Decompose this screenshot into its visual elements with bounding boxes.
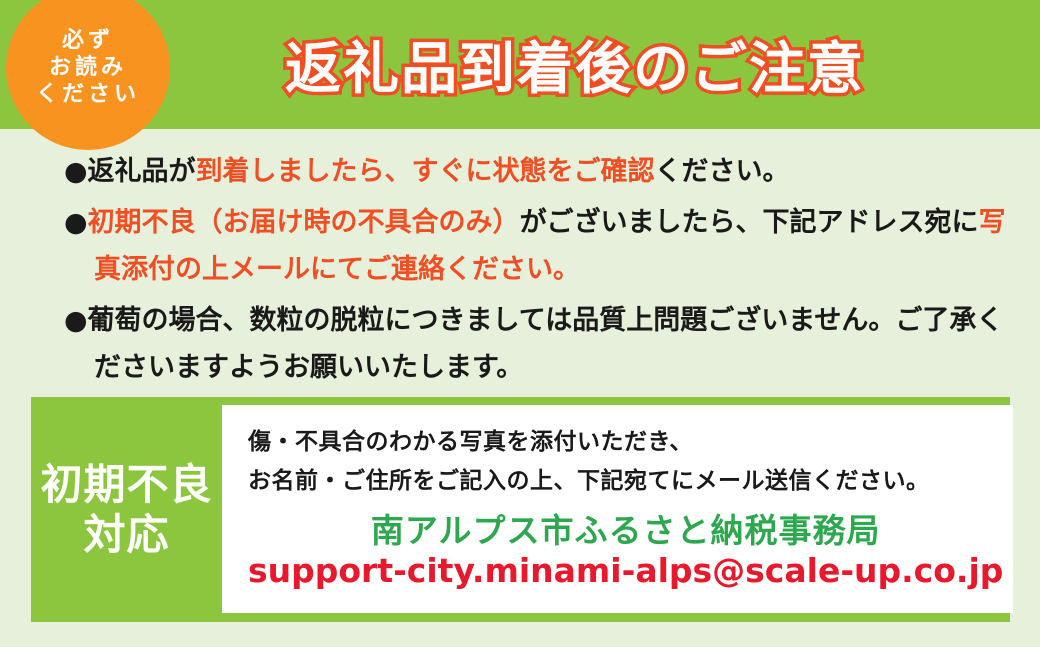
contact-email-address[interactable]: support-city.minami-alps@scale-up.co.jp — [248, 551, 1003, 591]
note-2-marker: ● — [64, 207, 88, 238]
note-item-2: ●初期不良（お届け時の不具合のみ）がございましたら、下記アドレス宛に写真添付の上… — [64, 199, 1008, 293]
notes-list: ●返礼品が到着しましたら、すぐに状態をご確認ください。 ●初期不良（お届け時の不… — [64, 148, 1008, 395]
defect-contact-panel: 初期不良 対応 傷・不具合のわかる写真を添付いただき、 お名前・ご住所をご記入の… — [31, 397, 1010, 622]
badge-line-2: お読み — [49, 56, 127, 80]
note-1-segment-2: 到着しましたら、すぐに状態をご確認 — [196, 156, 655, 187]
note-1-segment-1: ●返礼品が — [64, 156, 196, 187]
defect-label-line-2: 対応 — [83, 511, 169, 559]
notice-card: 返礼品到着後のご注意 必ず お読み ください ●返礼品が到着しましたら、すぐに状… — [0, 0, 1040, 647]
note-2-segment-1: 初期不良（お届け時の不具合のみ） — [88, 207, 520, 238]
defect-response-label: 初期不良 対応 — [31, 397, 222, 622]
organization-name: 南アルプス市ふるさと納税事務局 — [248, 511, 1003, 551]
note-3-segment-1: ●葡萄の場合、数粒の脱粒につきましては品質上問題ございません。ご了承くださいます… — [64, 305, 1003, 383]
note-item-3: ●葡萄の場合、数粒の脱粒につきましては品質上問題ございません。ご了承くださいます… — [64, 297, 1008, 391]
page-title: 返礼品到着後のご注意 — [255, 24, 895, 104]
note-1-segment-3: ください。 — [655, 156, 790, 187]
instruction-line-2: お名前・ご住所をご記入の上、下記宛てにメール送信ください。 — [248, 462, 1003, 501]
contact-details: 傷・不具合のわかる写真を添付いただき、 お名前・ご住所をご記入の上、下記宛てにメ… — [222, 405, 1013, 613]
badge-line-1: 必ず — [62, 29, 114, 53]
note-item-1: ●返礼品が到着しましたら、すぐに状態をご確認ください。 — [64, 148, 1008, 195]
note-2-segment-2: がございましたら、下記アドレス宛に — [520, 207, 979, 238]
badge-line-3: ください — [36, 83, 140, 107]
instruction-line-1: 傷・不具合のわかる写真を添付いただき、 — [248, 423, 1003, 462]
defect-label-line-1: 初期不良 — [40, 461, 212, 509]
